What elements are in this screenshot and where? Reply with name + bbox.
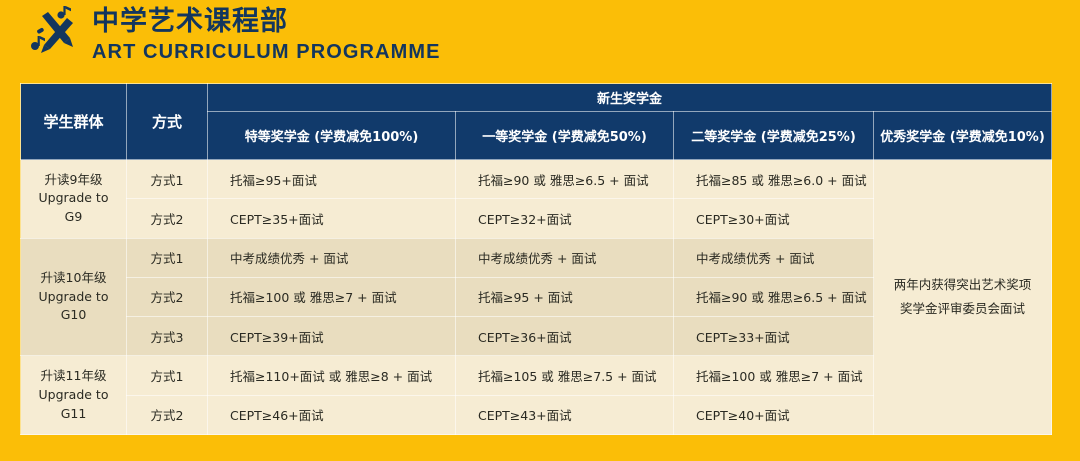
table-head: 学生群体 方式 新生奖学金 特等奖学金 (学费减免100%) 一等奖学金 (学费…	[21, 84, 1052, 160]
excellence-line-1: 两年内获得突出艺术奖项	[894, 277, 1032, 292]
method-cell: 方式1	[127, 356, 208, 395]
group-label-en: Upgrade to G11	[39, 387, 109, 421]
scholarship-table: 学生群体 方式 新生奖学金 特等奖学金 (学费减免100%) 一等奖学金 (学费…	[20, 83, 1052, 435]
criteria-cell: CEPT≥33+面试	[674, 317, 874, 356]
criteria-cell: CEPT≥35+面试	[208, 199, 456, 238]
criteria-cell: CEPT≥46+面试	[208, 395, 456, 434]
header-scholarship-second: 二等奖学金 (学费减免25%)	[674, 112, 874, 160]
group-label-en: Upgrade to G10	[39, 289, 109, 323]
method-cell: 方式1	[127, 160, 208, 199]
criteria-cell: 托福≥105 或 雅思≥7.5 + 面试	[456, 356, 674, 395]
criteria-cell: 托福≥110+面试 或 雅思≥8 + 面试	[208, 356, 456, 395]
criteria-cell: 托福≥95+面试	[208, 160, 456, 199]
group-label-en: Upgrade to G9	[39, 190, 109, 224]
group-label-g10: 升读10年级 Upgrade to G10	[21, 238, 127, 356]
art-pencil-brush-music-note-icon	[26, 6, 80, 64]
table-head-row-1: 学生群体 方式 新生奖学金	[21, 84, 1052, 112]
header-student-group: 学生群体	[21, 84, 127, 160]
table-row: 升读9年级 Upgrade to G9 方式1 托福≥95+面试 托福≥90 或…	[21, 160, 1052, 199]
criteria-cell: 托福≥95 + 面试	[456, 277, 674, 316]
method-cell: 方式3	[127, 317, 208, 356]
scholarship-poster: 中学艺术课程部 ART CURRICULUM PROGRAMME 学生群体 方式…	[0, 0, 1080, 461]
criteria-cell: 中考成绩优秀 + 面试	[674, 238, 874, 277]
criteria-cell: 托福≥100 或 雅思≥7 + 面试	[674, 356, 874, 395]
method-cell: 方式2	[127, 199, 208, 238]
excellence-line-2: 奖学金评审委员会面试	[900, 301, 1025, 316]
criteria-cell: CEPT≥40+面试	[674, 395, 874, 434]
header-scholarship-special: 特等奖学金 (学费减免100%)	[208, 112, 456, 160]
method-cell: 方式2	[127, 277, 208, 316]
criteria-cell: CEPT≥39+面试	[208, 317, 456, 356]
header-scholarship-excellence: 优秀奖学金 (学费减免10%)	[874, 112, 1052, 160]
table-body: 升读9年级 Upgrade to G9 方式1 托福≥95+面试 托福≥90 或…	[21, 160, 1052, 435]
scholarship-table-container: 学生群体 方式 新生奖学金 特等奖学金 (学费减免100%) 一等奖学金 (学费…	[20, 80, 1051, 435]
excellence-merged-cell: 两年内获得突出艺术奖项 奖学金评审委员会面试	[874, 160, 1052, 435]
brand-header: 中学艺术课程部 ART CURRICULUM PROGRAMME	[26, 6, 441, 64]
brand-title-cn: 中学艺术课程部	[92, 6, 441, 37]
brand-title-block: 中学艺术课程部 ART CURRICULUM PROGRAMME	[92, 6, 441, 63]
criteria-cell: 中考成绩优秀 + 面试	[456, 238, 674, 277]
header-group-title: 新生奖学金	[208, 84, 1052, 112]
criteria-cell: 托福≥100 或 雅思≥7 + 面试	[208, 277, 456, 316]
header-method: 方式	[127, 84, 208, 160]
criteria-cell: 中考成绩优秀 + 面试	[208, 238, 456, 277]
group-label-cn: 升读10年级	[41, 270, 107, 285]
criteria-cell: CEPT≥43+面试	[456, 395, 674, 434]
criteria-cell: CEPT≥30+面试	[674, 199, 874, 238]
group-label-g11: 升读11年级 Upgrade to G11	[21, 356, 127, 435]
method-cell: 方式2	[127, 395, 208, 434]
group-label-cn: 升读9年级	[45, 172, 103, 187]
header-scholarship-first: 一等奖学金 (学费减免50%)	[456, 112, 674, 160]
group-label-g9: 升读9年级 Upgrade to G9	[21, 160, 127, 239]
criteria-cell: 托福≥90 或 雅思≥6.5 + 面试	[456, 160, 674, 199]
criteria-cell: CEPT≥36+面试	[456, 317, 674, 356]
method-cell: 方式1	[127, 238, 208, 277]
criteria-cell: 托福≥85 或 雅思≥6.0 + 面试	[674, 160, 874, 199]
criteria-cell: CEPT≥32+面试	[456, 199, 674, 238]
group-label-cn: 升读11年级	[41, 368, 107, 383]
brand-title-en: ART CURRICULUM PROGRAMME	[92, 40, 441, 64]
criteria-cell: 托福≥90 或 雅思≥6.5 + 面试	[674, 277, 874, 316]
